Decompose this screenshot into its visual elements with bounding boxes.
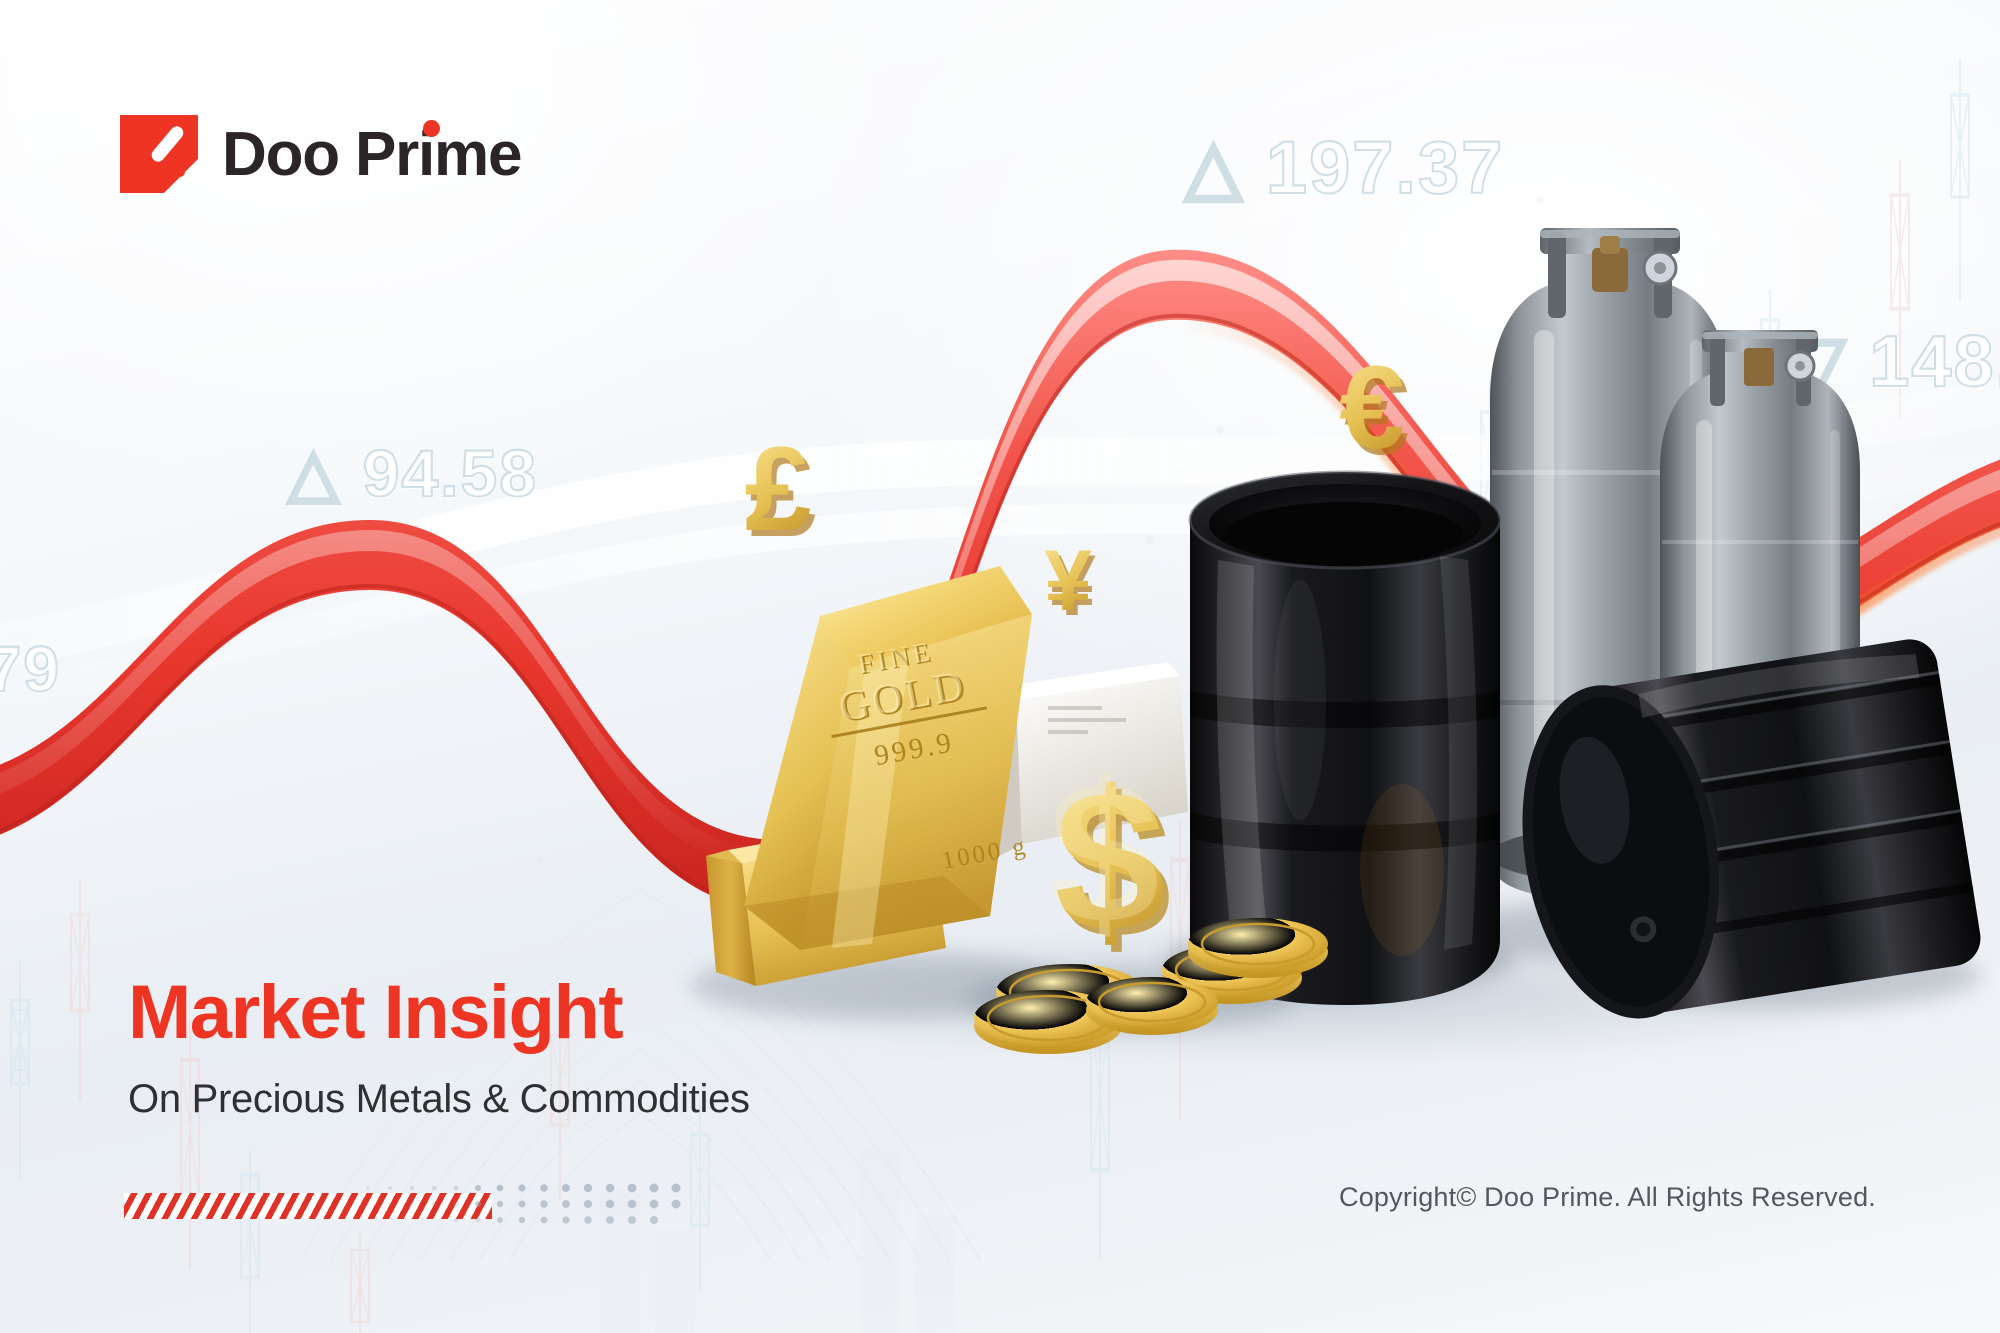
svg-text:€: €: [1339, 342, 1405, 474]
doo-prime-wordmark: Doo Prime: [222, 119, 521, 190]
doo-prime-logo-mark: [120, 115, 198, 193]
svg-text:£: £: [745, 422, 812, 556]
pound-symbol: £ £: [745, 422, 817, 562]
doo-prime-logo[interactable]: Doo Prime: [120, 115, 521, 193]
coin-single-front: [1086, 977, 1218, 1035]
svg-text:¥: ¥: [1044, 533, 1092, 629]
euro-symbol: € €: [1339, 342, 1410, 480]
footer-decoration: [124, 1188, 684, 1222]
commodities-product-cluster: FINE GOLD 999.9 FINE GOLD 1000 g: [0, 0, 2000, 1333]
market-insight-banner: △ 197.37 △ 94.58 ▽ 148.48 .79: [0, 0, 2000, 1333]
halftone-dots: [360, 1180, 690, 1228]
page-subtitle: On Precious Metals & Commodities: [128, 1077, 750, 1122]
dollar-symbol: $ $ $: [1048, 742, 1171, 980]
page-title: Market Insight: [128, 975, 750, 1051]
svg-text:$: $: [1048, 742, 1159, 965]
brand-name: Doo Prime: [222, 120, 521, 189]
logo-i-dot: [423, 120, 440, 137]
yen-symbol: ¥ ¥: [1044, 533, 1096, 634]
copyright-text: Copyright© Doo Prime. All Rights Reserve…: [1339, 1182, 1876, 1213]
headline-block: Market Insight On Precious Metals & Comm…: [128, 975, 750, 1122]
gold-bar-large: FINE GOLD 999.9 FINE GOLD 1000 g: [744, 566, 1032, 950]
